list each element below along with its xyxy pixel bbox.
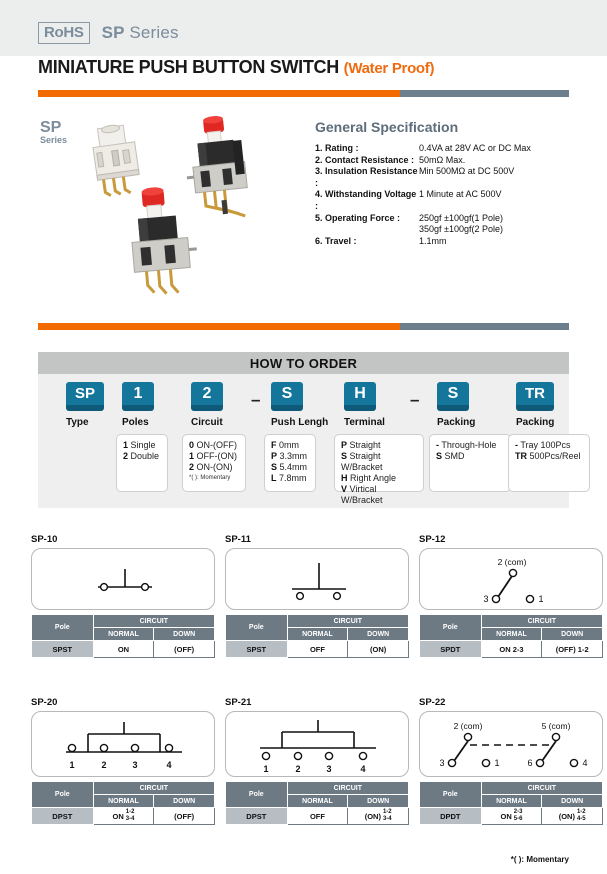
col-header-pole: Pole (420, 615, 482, 641)
general-spec-row: 4. Withstanding Voltage : 1 Minute at AC… (315, 189, 531, 212)
rohs-badge: RoHS (38, 22, 90, 44)
option-item: V Virtical W/Bracket (341, 484, 418, 506)
col-header-down: DOWN (542, 628, 603, 641)
spec-key: 2. Contact Resistance : (315, 155, 419, 167)
cell-normal-inner: ON 2-3 5-6 (482, 809, 542, 823)
option-item: 1 Single (123, 440, 162, 451)
circuit-symbol-dpdt: 2 (com) 5 (com) 3 1 6 4 (420, 712, 604, 778)
option-item: H Right Angle (341, 473, 418, 484)
cell-pole: DPST (32, 808, 94, 825)
col-header-pole: Pole (420, 782, 482, 808)
frac-bottom: 3-4 (126, 816, 135, 822)
option-value: Single (131, 440, 156, 450)
spec-key: 6. Travel : (315, 236, 419, 248)
order-segment-type[interactable]: SP Type (66, 382, 104, 428)
order-options-packing-1: - Through-Hole S SMD (429, 434, 511, 492)
diagram-label-com1: 2 (com) (454, 721, 483, 731)
datasheet-page: RoHS SP Series MINIATURE PUSH BUTTON SWI… (0, 0, 607, 874)
frac-bottom: 3-4 (383, 816, 392, 822)
option-value: Straight (350, 440, 381, 450)
circuit-block-sp-11: SP-11 Pole CIRCUIT NORMAL DOWN SPST OFF … (225, 534, 409, 658)
option-value: 5.4mm (280, 462, 308, 472)
option-value: Right Angle (350, 473, 396, 483)
order-code-chip[interactable]: 1 (122, 382, 154, 411)
order-options-circuit: 0 ON-(OFF) 1 OFF-(ON) 2 ON-(ON) *( ): Mo… (182, 434, 246, 492)
cell-down: (ON) 1-2 4-5 (542, 808, 603, 825)
col-header-down: DOWN (542, 795, 603, 808)
order-code-chip[interactable]: 2 (191, 382, 223, 411)
diagram-pin-label: 3 (439, 758, 444, 768)
circuit-symbol-spdt: 2 (com) 3 1 (420, 549, 604, 611)
option-value: 500Pcs/Reel (530, 451, 581, 461)
option-value: Through-Hole (441, 440, 496, 450)
cell-normal: ON 2-3 5-6 (481, 808, 542, 825)
order-code-chip[interactable]: S (271, 382, 303, 411)
option-key: V (341, 484, 347, 494)
table-row: DPST ON 1-2 3-4 (OFF) (32, 808, 215, 825)
cell-pole: SPDT (420, 641, 482, 658)
general-spec-row: 3. Insulation Resistance : Min 500MΩ at … (315, 166, 531, 189)
order-code-row: SP Type 1 Poles 1 Single 2 Double (38, 374, 569, 508)
frac-bottom: 4-5 (577, 816, 586, 822)
table-row: Pole CIRCUIT (32, 782, 215, 795)
order-segment-packing-1[interactable]: S Packing (437, 382, 475, 428)
col-header-circuit: CIRCUIT (93, 782, 214, 795)
general-spec-row: 6. Travel : 1.1mm (315, 236, 531, 248)
col-header-normal: NORMAL (287, 628, 348, 641)
order-segment-label: Packing (516, 417, 554, 428)
cell-down: (ON) 1-2 3-4 (348, 808, 409, 825)
frac-top: 1-2 (383, 809, 392, 815)
option-item: L 7.8mm (271, 473, 310, 484)
order-code-chip[interactable]: S (437, 382, 469, 411)
header: RoHS SP Series (38, 22, 179, 44)
circuit-diagram: 2 (com) 3 1 (419, 548, 603, 610)
order-code-chip[interactable]: TR (516, 382, 554, 411)
diagram-pin-label: 1 (494, 758, 499, 768)
table-row: Pole CIRCUIT (420, 782, 603, 795)
table-row: SPST OFF (ON) (226, 641, 409, 658)
option-item: F 0mm (271, 440, 310, 451)
option-value: Tray 100Pcs (520, 440, 570, 450)
page-title-waterproof: (Water Proof) (344, 60, 435, 77)
diagram-pin-label: 4 (582, 758, 587, 768)
col-header-normal: NORMAL (481, 628, 542, 641)
table-row: DPST OFF (ON) 1-2 3-4 (226, 808, 409, 825)
option-key: H (341, 473, 348, 483)
option-key: 2 (189, 462, 194, 472)
diagram-label-com2: 5 (com) (542, 721, 571, 731)
col-header-circuit: CIRCUIT (481, 615, 602, 628)
option-value: 7.8mm (279, 473, 307, 483)
option-value: SMD (445, 451, 465, 461)
spec-value: Min 500MΩ at DC 500V (419, 166, 514, 189)
spec-key (315, 224, 419, 236)
circuit-title: SP-20 (31, 697, 215, 708)
circuit-symbol-dpst-nc: 1 2 3 4 (226, 712, 410, 778)
option-item: TR 500Pcs/Reel (515, 451, 584, 462)
circuit-table: Pole CIRCUIT NORMAL DOWN DPST OFF (ON) 1… (225, 781, 409, 825)
table-row: SPST ON (OFF) (32, 641, 215, 658)
divider-orange-segment (38, 323, 400, 330)
order-segment-label: Type (66, 417, 104, 428)
order-options-push-length: F 0mm P 3.3mm S 5.4mm L 7.8mm (264, 434, 316, 492)
product-photo-through-hole-switch (114, 182, 206, 302)
table-row: Pole CIRCUIT (420, 615, 603, 628)
divider-bar-top (38, 90, 569, 97)
col-header-normal: NORMAL (287, 795, 348, 808)
col-header-pole: Pole (32, 782, 94, 808)
order-segment-label: Packing (437, 417, 475, 428)
series-title-bold: SP (102, 23, 125, 42)
option-item: 2 Double (123, 451, 162, 462)
cell-down: (OFF) 1-2 (542, 641, 603, 658)
option-key: F (271, 440, 277, 450)
cell-down-text: (ON) (365, 812, 381, 821)
diagram-pin-label: 3 (132, 760, 137, 770)
order-options-terminal: P Straight S Straight W/Bracket H Right … (334, 434, 424, 492)
frac-top: 2-3 (514, 809, 523, 815)
col-header-down: DOWN (348, 628, 409, 641)
general-spec-title: General Specification (315, 119, 458, 135)
order-segment-push-length[interactable]: S Push Lengh (271, 382, 328, 428)
spec-value: 1.1mm (419, 236, 447, 248)
diagram-label-com: 2 (com) (498, 557, 527, 567)
circuit-diagram: 1 2 3 4 (31, 711, 215, 777)
cell-pole: SPST (226, 641, 288, 658)
diagram-pin-label: 2 (101, 760, 106, 770)
option-value: 0mm (279, 440, 299, 450)
option-item: - Tray 100Pcs (515, 440, 584, 451)
product-photos (60, 112, 300, 307)
cell-normal-fraction: 2-3 5-6 (514, 809, 523, 823)
circuit-title: SP-10 (31, 534, 215, 545)
col-header-pole: Pole (32, 615, 94, 641)
col-header-normal: NORMAL (93, 795, 154, 808)
general-spec-row: 350gf ±100gf(2 Pole) (315, 224, 531, 236)
circuit-title: SP-11 (225, 534, 409, 545)
cell-normal-text: ON (113, 812, 124, 821)
frac-top: 1-2 (577, 809, 586, 815)
general-spec-row: 5. Operating Force : 250gf ±100gf(1 Pole… (315, 213, 531, 225)
how-to-order-body: SP Type 1 Poles 1 Single 2 Double (38, 374, 569, 508)
divider-gray-segment (400, 323, 569, 330)
col-header-circuit: CIRCUIT (93, 615, 214, 628)
cell-down-fraction: 1-2 4-5 (577, 809, 586, 823)
circuit-symbol-dpst-no: 1 2 3 4 (32, 712, 216, 778)
spec-value: 350gf ±100gf(2 Pole) (419, 224, 503, 236)
spec-key: 1. Rating : (315, 143, 419, 155)
circuit-table: Pole CIRCUIT NORMAL DOWN DPST ON 1-2 3-4 (31, 781, 215, 825)
diagram-pin-label: 4 (360, 764, 365, 774)
order-segment-label: Poles (122, 417, 154, 428)
page-title-text: MINIATURE PUSH BUTTON SWITCH (38, 57, 339, 77)
diagram-pin-label: 2 (295, 764, 300, 774)
series-title-light: Series (129, 23, 178, 42)
cell-normal: OFF (287, 808, 348, 825)
option-key: 1 (189, 451, 194, 461)
col-header-down: DOWN (348, 795, 409, 808)
diagram-pin-label: 1 (69, 760, 74, 770)
spec-key: 4. Withstanding Voltage : (315, 189, 419, 212)
option-key: S (436, 451, 442, 461)
cell-down: (OFF) (154, 641, 215, 658)
option-key: 2 (123, 451, 128, 461)
option-value: Virtical W/Bracket (341, 484, 383, 505)
option-value: ON-(ON) (197, 462, 233, 472)
order-segment-label: Push Lengh (271, 417, 328, 428)
option-key: TR (515, 451, 527, 461)
spec-value: 250gf ±100gf(1 Pole) (419, 213, 503, 225)
diagram-pin-label: 6 (527, 758, 532, 768)
option-key: - (515, 440, 518, 450)
cell-pole: DPST (226, 808, 288, 825)
circuit-diagram (225, 548, 409, 610)
option-key: 1 (123, 440, 128, 450)
option-key: S (341, 451, 347, 461)
cell-down: (OFF) (154, 808, 215, 825)
spec-key: 3. Insulation Resistance : (315, 166, 419, 189)
option-item: 1 OFF-(ON) (189, 451, 240, 462)
order-separator-dash: – (410, 390, 419, 410)
cell-down-inner: (ON) 1-2 4-5 (542, 809, 602, 823)
circuit-table: Pole CIRCUIT NORMAL DOWN SPDT ON 2-3 (OF… (419, 614, 603, 658)
option-item: 0 ON-(OFF) (189, 440, 240, 451)
cell-pole: SPST (32, 641, 94, 658)
divider-orange-segment (38, 90, 400, 97)
circuit-symbol-spst-nc (226, 549, 410, 611)
cell-normal: ON (93, 641, 154, 658)
option-value: ON-(OFF) (197, 440, 238, 450)
diagram-pin-label: 1 (263, 764, 268, 774)
option-key: - (436, 440, 439, 450)
table-row: Pole CIRCUIT (226, 782, 409, 795)
col-header-pole: Pole (226, 782, 288, 808)
page-title: MINIATURE PUSH BUTTON SWITCH (Water Proo… (38, 57, 434, 78)
order-code-chip[interactable]: SP (66, 382, 104, 411)
option-item: P Straight (341, 440, 418, 451)
cell-normal: OFF (287, 641, 348, 658)
circuit-block-sp-10: SP-10 Pole CIRCUIT NORMAL DOWN SPST ON (… (31, 534, 215, 658)
cell-pole: DPDT (420, 808, 482, 825)
order-options-poles: 1 Single 2 Double (116, 434, 168, 492)
cell-normal: ON 2-3 (481, 641, 542, 658)
divider-gray-segment (400, 90, 569, 97)
spec-key: 5. Operating Force : (315, 213, 419, 225)
col-header-normal: NORMAL (481, 795, 542, 808)
general-spec-list: 1. Rating : 0.4VA at 28V AC or DC Max 2.… (315, 143, 531, 247)
frac-top: 1-2 (126, 809, 135, 815)
option-item: 2 ON-(ON) (189, 462, 240, 473)
option-key: 0 (189, 440, 194, 450)
circuit-block-sp-12: SP-12 2 (com) 3 1 Pole CIRCUIT NORMAL DO… (419, 534, 603, 658)
option-item: S SMD (436, 451, 505, 462)
table-row: Pole CIRCUIT (32, 615, 215, 628)
circuit-block-sp-22: SP-22 2 (com) 5 (com) 3 1 6 4 (419, 697, 603, 825)
cell-down-text: (ON) (559, 812, 575, 821)
option-item: S Straight W/Bracket (341, 451, 418, 473)
table-row: SPDT ON 2-3 (OFF) 1-2 (420, 641, 603, 658)
circuit-diagram: 1 2 3 4 (225, 711, 409, 777)
order-separator-dash: – (251, 390, 260, 410)
option-key: L (271, 473, 277, 483)
option-key: P (271, 451, 277, 461)
how-to-order-header: HOW TO ORDER (38, 352, 569, 374)
option-key: P (341, 440, 347, 450)
circuit-table: Pole CIRCUIT NORMAL DOWN DPDT ON 2-3 5-6 (419, 781, 603, 825)
circuit-diagram (31, 548, 215, 610)
order-segment-packing-2[interactable]: TR Packing (516, 382, 554, 428)
col-header-circuit: CIRCUIT (287, 615, 408, 628)
footer-momentary-note: *( ): Momentary (511, 855, 569, 864)
cell-normal: ON 1-2 3-4 (93, 808, 154, 825)
series-title: SP Series (102, 23, 179, 43)
col-header-down: DOWN (154, 628, 215, 641)
order-segment-label: Circuit (191, 417, 223, 428)
order-segment-terminal[interactable]: H Terminal (344, 382, 385, 428)
col-header-circuit: CIRCUIT (481, 782, 602, 795)
circuit-table: Pole CIRCUIT NORMAL DOWN SPST ON (OFF) (31, 614, 215, 658)
cell-normal-fraction: 1-2 3-4 (126, 809, 135, 823)
col-header-normal: NORMAL (93, 628, 154, 641)
spec-value: 0.4VA at 28V AC or DC Max (419, 143, 531, 155)
table-row: Pole CIRCUIT (226, 615, 409, 628)
general-spec-row: 1. Rating : 0.4VA at 28V AC or DC Max (315, 143, 531, 155)
order-options-packing-2: - Tray 100Pcs TR 500Pcs/Reel (508, 434, 590, 492)
circuit-title: SP-21 (225, 697, 409, 708)
option-item: - Through-Hole (436, 440, 505, 451)
circuit-block-sp-21: SP-21 1 2 3 4 Pole CIRCUIT (225, 697, 409, 825)
cell-down-inner: (ON) 1-2 3-4 (348, 809, 408, 823)
circuit-title: SP-22 (419, 697, 603, 708)
option-value: Straight W/Bracket (341, 451, 383, 472)
circuit-title: SP-12 (419, 534, 603, 545)
col-header-pole: Pole (226, 615, 288, 641)
col-header-down: DOWN (154, 795, 215, 808)
option-value: Double (131, 451, 160, 461)
option-key: S (271, 462, 277, 472)
general-spec-row: 2. Contact Resistance : 50mΩ Max. (315, 155, 531, 167)
option-value: 3.3mm (280, 451, 308, 461)
order-segment-poles[interactable]: 1 Poles (122, 382, 154, 428)
spec-value: 50mΩ Max. (419, 155, 465, 167)
order-segment-label: Terminal (344, 417, 385, 428)
momentary-note: *( ): Momentary (189, 473, 240, 484)
circuit-table: Pole CIRCUIT NORMAL DOWN SPST OFF (ON) (225, 614, 409, 658)
col-header-circuit: CIRCUIT (287, 782, 408, 795)
frac-bottom: 5-6 (514, 816, 523, 822)
table-row: DPDT ON 2-3 5-6 (ON) 1-2 (420, 808, 603, 825)
option-item: P 3.3mm (271, 451, 310, 462)
cell-down-fraction: 1-2 3-4 (383, 809, 392, 823)
cell-down: (ON) (348, 641, 409, 658)
spec-value: 1 Minute at AC 500V (419, 189, 502, 212)
order-code-chip[interactable]: H (344, 382, 376, 411)
diagram-label-right: 1 (538, 594, 543, 604)
cell-normal-text: ON (501, 812, 512, 821)
diagram-label-left: 3 (483, 594, 488, 604)
option-item: S 5.4mm (271, 462, 310, 473)
order-segment-circuit[interactable]: 2 Circuit (191, 382, 223, 428)
circuit-block-sp-20: SP-20 1 2 3 4 Pole CIRCUIT (31, 697, 215, 825)
diagram-pin-label: 4 (166, 760, 171, 770)
circuit-symbol-spst-no (32, 549, 216, 611)
option-value: OFF-(ON) (197, 451, 238, 461)
diagram-pin-label: 3 (326, 764, 331, 774)
divider-bar-bottom (38, 323, 569, 330)
cell-normal-inner: ON 1-2 3-4 (94, 809, 154, 823)
circuit-diagram: 2 (com) 5 (com) 3 1 6 4 (419, 711, 603, 777)
